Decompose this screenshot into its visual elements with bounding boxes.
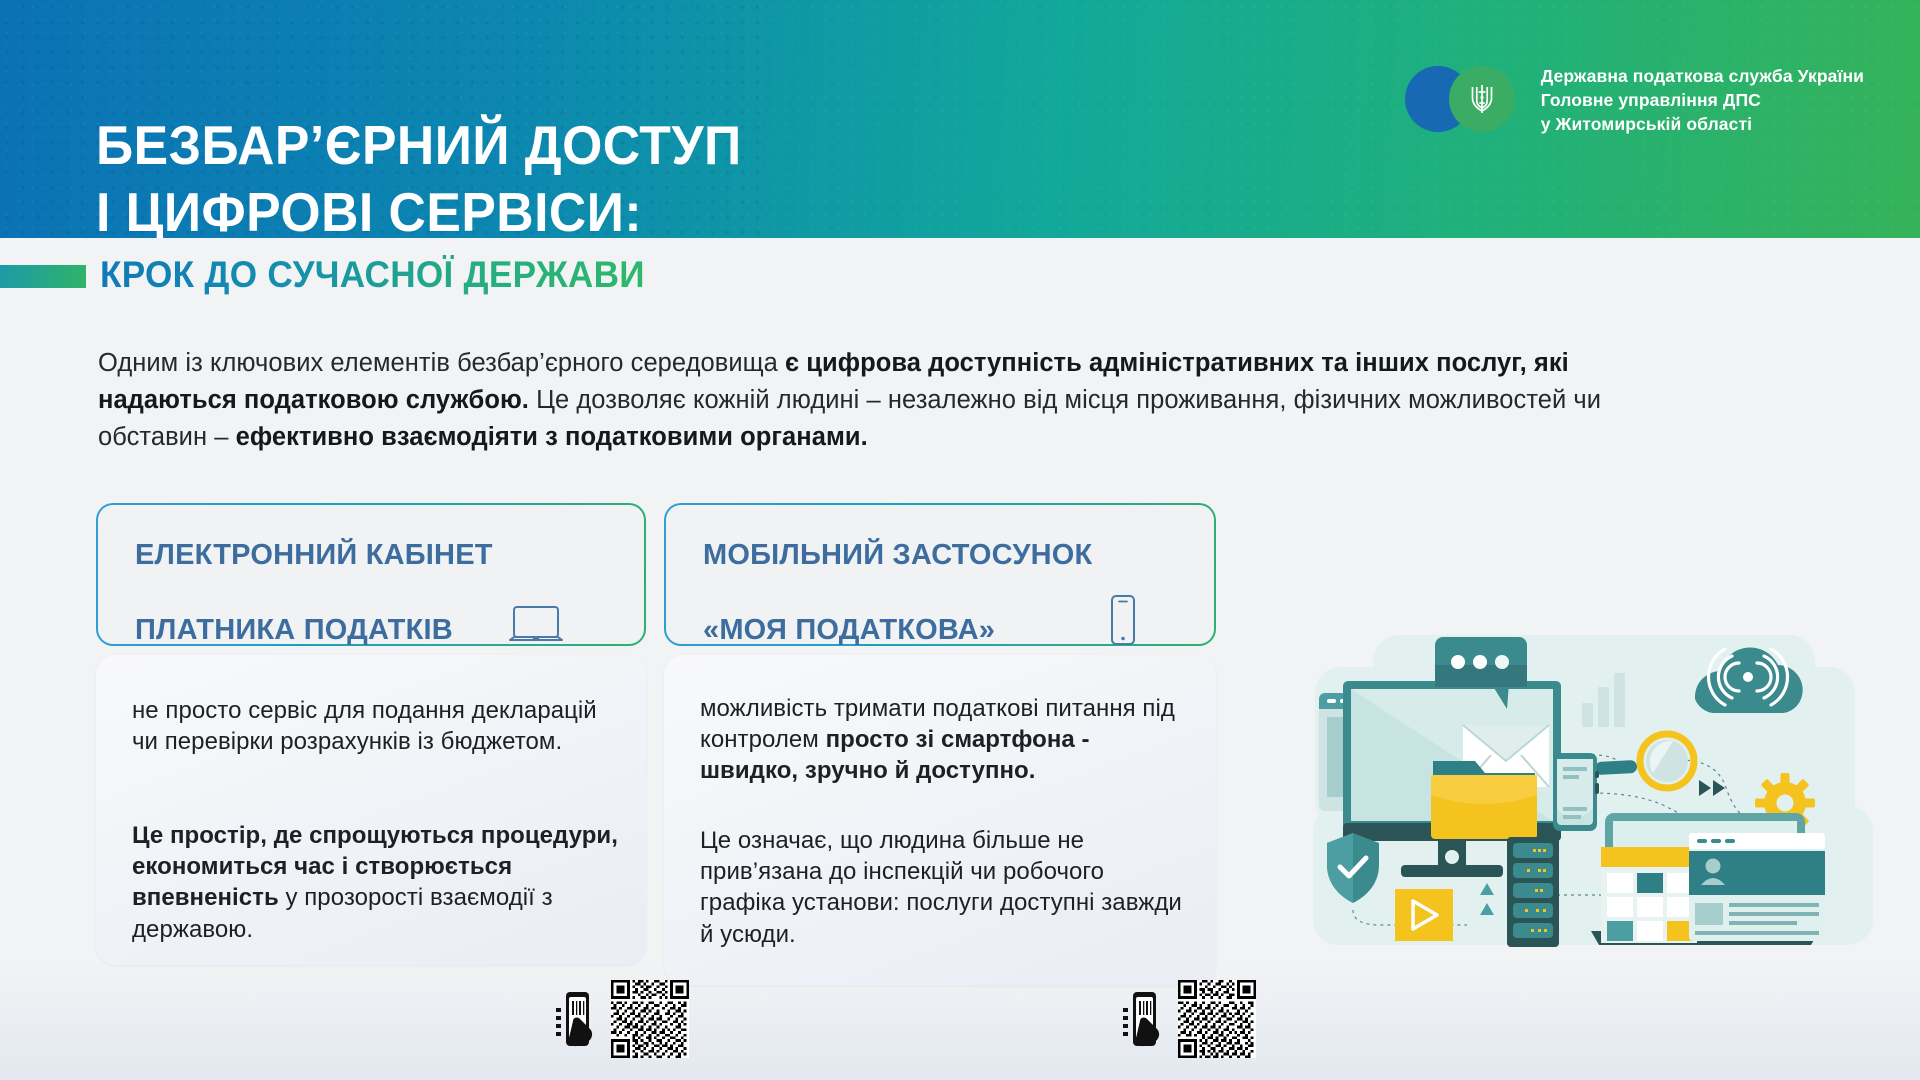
card1-paragraph-2: Це простір, де спрощуються процедури, ек…: [132, 820, 622, 945]
smartphone-icon: [1106, 594, 1140, 648]
scan-with-phone-icon: [553, 988, 603, 1050]
page-title-line1: БЕЗБАР’ЄРНИЙ ДОСТУП: [96, 114, 742, 176]
page-title-line2: І ЦИФРОВІ СЕРВІСИ:: [96, 179, 742, 238]
card-header-mobile-app[interactable]: МОБІЛЬНИЙ ЗАСТОСУНОК «МОЯ ПОДАТКОВА»: [664, 503, 1216, 646]
intro-part-1: Одним із ключових елементів безбар’єрног…: [98, 349, 785, 377]
page-title: БЕЗБАР’ЄРНИЙ ДОСТУП І ЦИФРОВІ СЕРВІСИ:: [96, 44, 742, 238]
qr-code-electronic-cabinet[interactable]: [611, 980, 689, 1058]
card-body-mobile-app: можливість тримати податкові питання під…: [664, 655, 1216, 985]
page-header: БЕЗБАР’ЄРНИЙ ДОСТУП І ЦИФРОВІ СЕРВІСИ:: [0, 0, 1920, 238]
card1-paragraph-1: не просто сервіс для подання декларацій …: [132, 695, 612, 757]
card2-title-line2: «МОЯ ПОДАТКОВА»: [703, 614, 995, 646]
logo-marks: [1405, 64, 1527, 136]
org-line-1: Державна податкова служба України: [1541, 64, 1864, 89]
card1-title-line1: ЕЛЕКТРОННИЙ КАБІНЕТ: [135, 539, 493, 571]
intro-bold-2: ефективно взаємодіяти з податковими орга…: [236, 423, 868, 451]
org-line-3: у Житомирській області: [1541, 113, 1864, 136]
card2-paragraph-1: можливість тримати податкові питання під…: [700, 693, 1180, 787]
card-header-electronic-cabinet[interactable]: ЕЛЕКТРОННИЙ КАБІНЕТ ПЛАТНИКА ПОДАТКІВ: [96, 503, 646, 646]
card-title-electronic-cabinet: ЕЛЕКТРОННИЙ КАБІНЕТ ПЛАТНИКА ПОДАТКІВ: [135, 499, 493, 650]
scan-with-phone-icon-2: [1120, 988, 1170, 1050]
qr-code-mobile-app[interactable]: [1178, 980, 1256, 1058]
card-title-mobile-app: МОБІЛЬНИЙ ЗАСТОСУНОК «МОЯ ПОДАТКОВА»: [703, 499, 1092, 650]
org-line-2: Головне управління ДПС: [1541, 89, 1864, 112]
laptop-icon: [507, 604, 565, 648]
ukraine-trident-icon: [1467, 79, 1497, 119]
calendar-icon: [1601, 847, 1697, 943]
play-button-icon: [1395, 889, 1453, 941]
user-profile-icon: [1689, 833, 1825, 941]
intro-paragraph: Одним із ключових елементів безбар’єрног…: [98, 345, 1693, 457]
section-accent-bar: [0, 265, 86, 288]
smartphone-illus-icon: [1553, 753, 1599, 831]
card1-title-line2: ПЛАТНИКА ПОДАТКІВ: [135, 614, 453, 646]
organization-logo: Державна податкова служба України Головн…: [1405, 64, 1864, 136]
section-heading: КРОК ДО СУЧАСНОЇ ДЕРЖАВИ: [100, 254, 645, 296]
card-body-electronic-cabinet: не просто сервіс для подання декларацій …: [96, 655, 646, 965]
qr-block-electronic-cabinet[interactable]: [553, 980, 689, 1058]
digital-services-illustration: [1295, 625, 1895, 955]
organization-name: Державна податкова служба України Головн…: [1541, 64, 1864, 136]
qr-block-mobile-app[interactable]: [1120, 980, 1256, 1058]
card2-paragraph-2: Це означає, що людина більше не прив’яза…: [700, 825, 1190, 950]
card2-title-line1: МОБІЛЬНИЙ ЗАСТОСУНОК: [703, 539, 1092, 571]
logo-green-circle: [1449, 66, 1515, 132]
